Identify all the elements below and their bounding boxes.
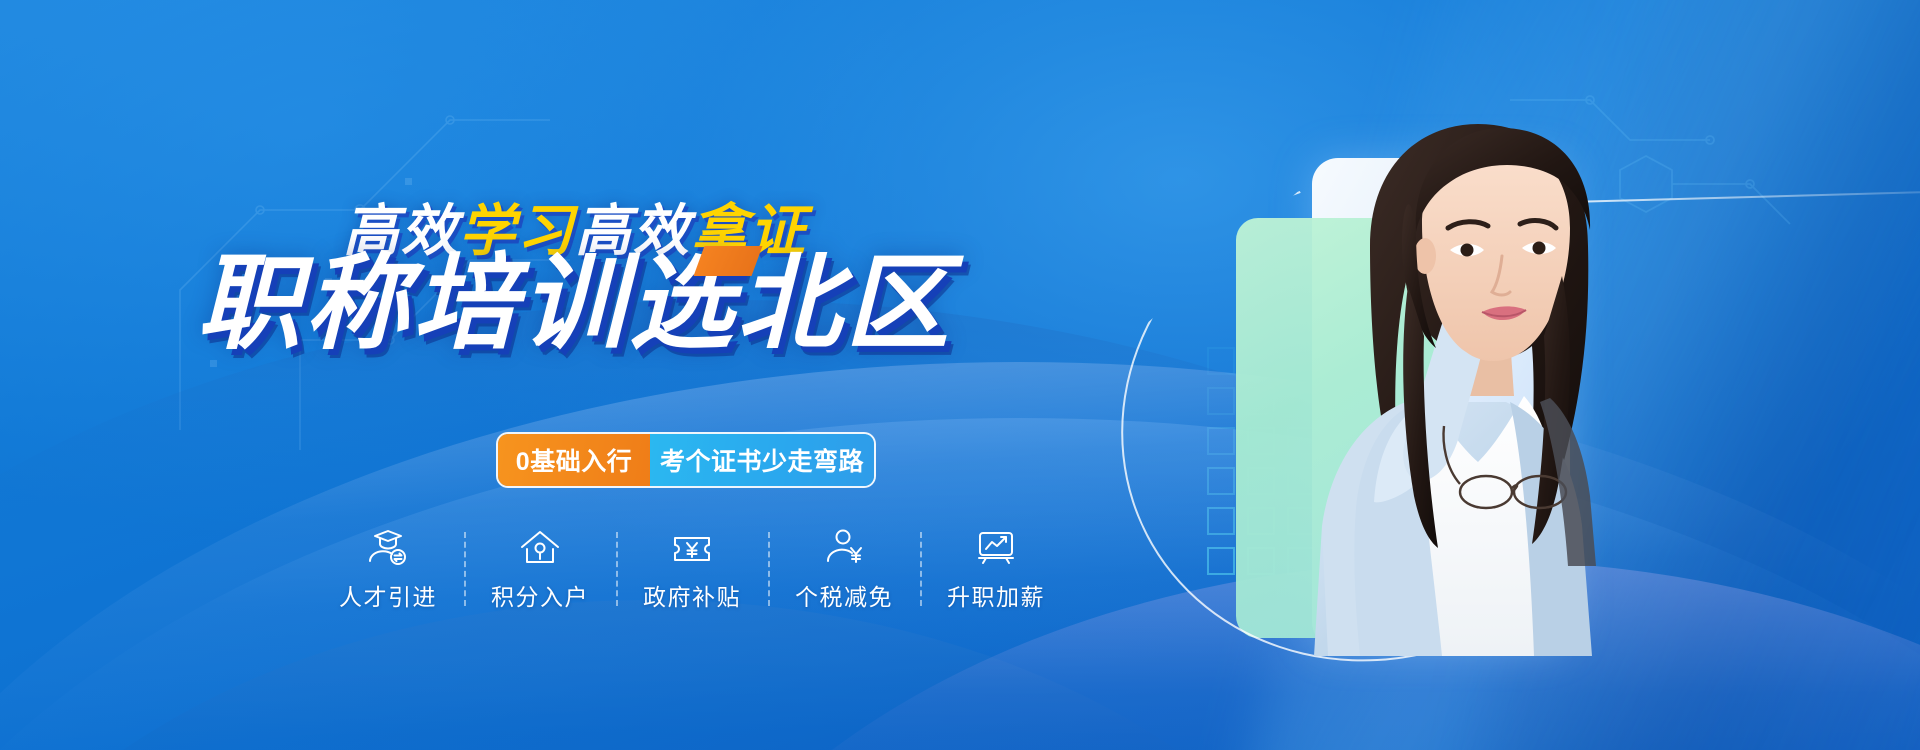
headline-text: 职称培训选北区 <box>197 246 953 362</box>
growth-chart-board-icon <box>975 528 1017 568</box>
promo-banner: 高效学习高效拿证 职称培训选北区 0基础入行 考个证书少走弯路 <box>0 0 1920 750</box>
feature-label: 升职加薪 <box>947 578 1045 612</box>
page-title: 职称培训选北区 <box>197 248 953 360</box>
home-location-icon <box>519 528 561 568</box>
feature-label: 政府补贴 <box>643 578 741 612</box>
feature-item-points-residency[interactable]: 积分入户 <box>464 528 616 612</box>
feature-label: 个税减免 <box>795 578 893 612</box>
feature-label: 积分入户 <box>491 578 589 612</box>
tagline-badge-right: 考个证书少走弯路 <box>650 434 874 486</box>
headline-wrapper: 职称培训选北区 <box>0 248 1150 360</box>
feature-list: 人才引进 积分入户 <box>312 528 1072 638</box>
feature-item-tax-reduction[interactable]: 个税减免 <box>768 528 920 612</box>
banner-content: 高效学习高效拿证 职称培训选北区 0基础入行 考个证书少走弯路 <box>0 0 1150 750</box>
feature-label: 人才引进 <box>339 578 437 612</box>
feature-item-promotion-raise[interactable]: 升职加薪 <box>920 528 1072 612</box>
feature-item-government-subsidy[interactable]: 政府补贴 <box>616 528 768 612</box>
orange-slash-accent-icon <box>694 246 763 276</box>
ticket-yuan-icon <box>671 528 713 568</box>
presenter-photo <box>1210 96 1680 656</box>
tagline-pill: 0基础入行 考个证书少走弯路 <box>496 432 876 488</box>
graduation-cap-person-icon <box>367 528 409 568</box>
tagline-badge-left: 0基础入行 <box>498 434 650 486</box>
feature-item-talent-introduction[interactable]: 人才引进 <box>312 528 464 612</box>
person-yuan-icon <box>823 528 865 568</box>
